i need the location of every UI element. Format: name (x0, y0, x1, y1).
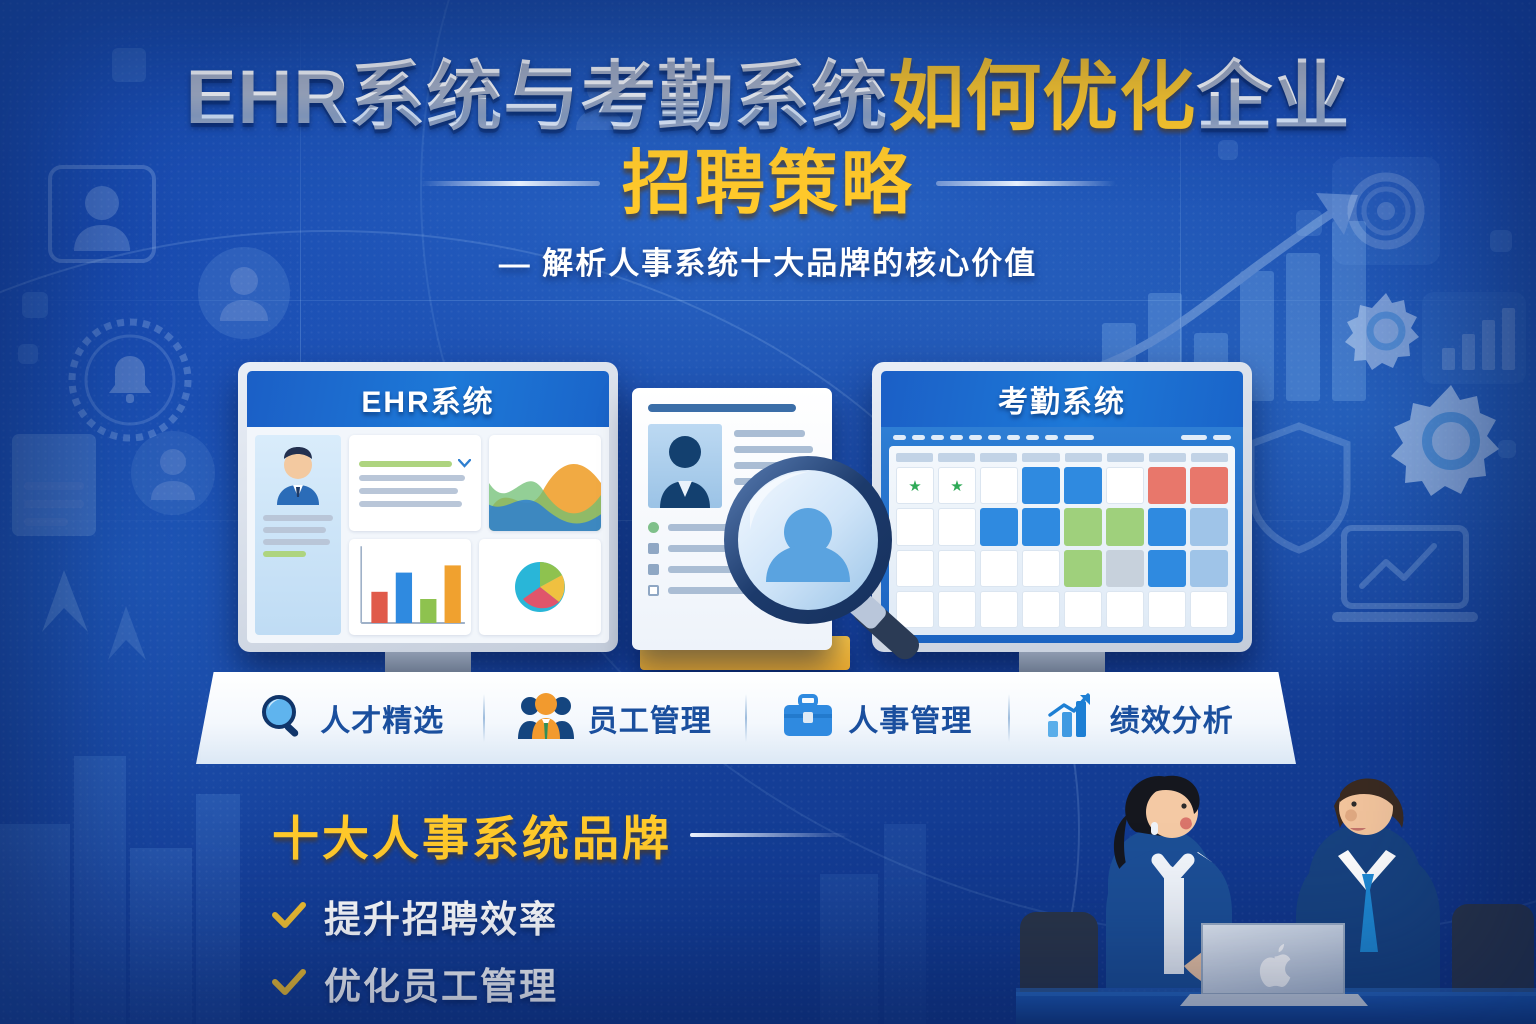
ehr-dashboard-main (349, 435, 601, 635)
table-cell (1190, 550, 1228, 587)
table-cell (1064, 550, 1102, 587)
table-cell (1190, 591, 1228, 628)
table-cell (1148, 591, 1186, 628)
table-cell (1190, 508, 1228, 545)
headline-line-2-row: 招聘策略 (0, 148, 1536, 218)
poster-root: EHR系统与考勤系统如何优化企业 招聘策略 — 解析人事系统十大品牌的核心价值 … (0, 0, 1536, 1024)
feature-label: 人事管理 (848, 696, 972, 740)
feature-item-employee-management[interactable]: 员工管理 (485, 693, 746, 744)
feature-banner: 人才精选 员工管理 (196, 672, 1296, 764)
table-cell (1022, 508, 1060, 545)
headline-white-a: EHR系统与考勤系统 (186, 55, 888, 140)
ehr-dashboard-row-bottom (349, 539, 601, 635)
bar-chart (349, 539, 471, 635)
headline-line-2: 招聘策略 (622, 148, 914, 218)
list-item-label: 提升招聘效率 (324, 889, 558, 943)
table-cell (1148, 467, 1186, 504)
table-cell (1106, 508, 1144, 545)
ehr-dashboard-row-top (349, 435, 601, 531)
ehr-monitor-body: EHR系统 (238, 362, 618, 652)
employee-avatar-icon (269, 445, 327, 507)
ehr-dashboard (247, 427, 609, 643)
feature-label: 绩效分析 (1110, 696, 1234, 740)
ehr-screen: EHR系统 (247, 371, 609, 643)
feature-label: 人才精选 (320, 696, 444, 740)
table-cell (1106, 467, 1144, 504)
headline-rule-left (420, 181, 600, 186)
check-icon (272, 901, 306, 931)
attendance-toolbar (889, 435, 1235, 440)
headline-block: EHR系统与考勤系统如何优化企业 招聘策略 — 解析人事系统十大品牌的核心价值 (0, 60, 1536, 283)
two-business-people-with-laptop (1016, 756, 1536, 1024)
list-item[interactable]: 优化员工管理 (272, 956, 850, 1010)
ehr-profile-panel (255, 435, 341, 635)
list-item[interactable]: 提升招聘效率 (272, 889, 850, 943)
feature-banner-inner: 人才精选 员工管理 (196, 672, 1296, 764)
table-cell (1064, 508, 1102, 545)
headline-subtitle: — 解析人事系统十大品牌的核心价值 (0, 238, 1536, 283)
headline-line-1: EHR系统与考勤系统如何优化企业 (0, 60, 1536, 136)
table-cell (1190, 467, 1228, 504)
table-cell (980, 508, 1018, 545)
feature-item-hr-management[interactable]: 人事管理 (747, 694, 1008, 743)
resume-photo (648, 424, 722, 508)
brands-rule (690, 833, 850, 837)
laptop-icon (1180, 924, 1368, 1006)
headline-gold: 如何优化 (888, 55, 1196, 140)
magnifier-icon (260, 693, 306, 744)
check-icon (272, 968, 306, 998)
brands-section: 十大人事系统品牌 提升招聘效率 优化员工管理 降低运营成本 (272, 800, 850, 1024)
attendance-screen-title: 考勤系统 (881, 371, 1243, 427)
table-cell (1022, 550, 1060, 587)
table-cell (1022, 467, 1060, 504)
feature-item-talent-search[interactable]: 人才精选 (222, 693, 483, 744)
table-cell (1064, 591, 1102, 628)
people-icon (518, 693, 574, 744)
table-cell (980, 591, 1018, 628)
headline-rule-right (936, 181, 1116, 186)
ehr-screen-title: EHR系统 (247, 371, 609, 427)
chevron-down-icon (458, 459, 471, 468)
table-cell (1106, 550, 1144, 587)
table-cell (1022, 591, 1060, 628)
brands-header: 十大人事系统品牌 (272, 800, 850, 869)
resume-header-bar (648, 404, 796, 412)
magnifier-icon[interactable] (716, 452, 946, 677)
ehr-detail-card (349, 435, 481, 531)
ehr-monitor[interactable]: EHR系统 (238, 362, 618, 692)
table-cell (980, 467, 1018, 504)
table-cell (980, 550, 1018, 587)
briefcase-icon (782, 694, 834, 743)
area-chart (489, 435, 601, 531)
table-cell (1064, 467, 1102, 504)
brands-list: 提升招聘效率 优化员工管理 降低运营成本 (272, 889, 850, 1024)
table-cell (1148, 550, 1186, 587)
headline-white-b: 企业 (1196, 55, 1350, 140)
ehr-profile-lines (263, 515, 333, 557)
brands-title: 十大人事系统品牌 (272, 800, 672, 869)
table-cell (1148, 508, 1186, 545)
pie-chart (479, 539, 601, 635)
bar-chart-icon (1046, 693, 1096, 744)
feature-item-performance-analysis[interactable]: 绩效分析 (1010, 693, 1271, 744)
table-cell (1106, 591, 1144, 628)
list-item-label: 优化员工管理 (324, 956, 558, 1010)
feature-label: 员工管理 (588, 696, 712, 740)
